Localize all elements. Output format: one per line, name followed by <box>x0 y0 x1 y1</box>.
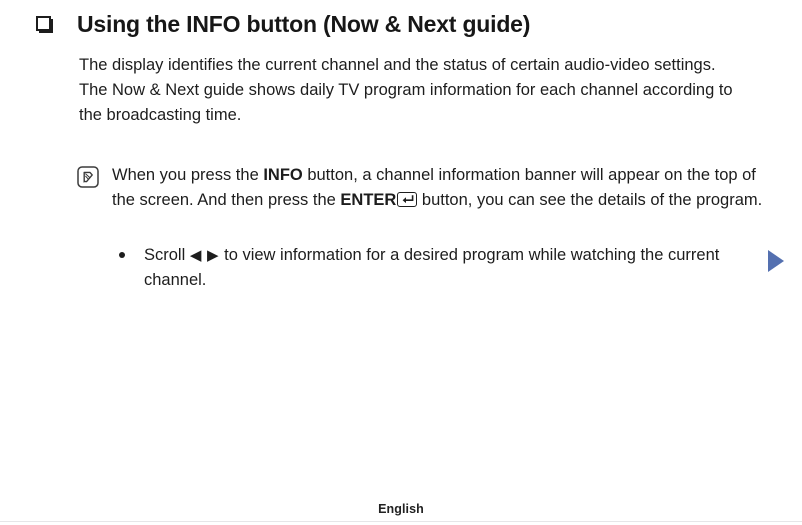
note-text-part-1: When you press the <box>112 166 263 184</box>
bullet-box <box>36 16 51 31</box>
arrow-left-icon: ◀ <box>190 247 203 264</box>
note-block: When you press the INFO button, a channe… <box>77 163 767 213</box>
scroll-text-before: Scroll <box>144 246 190 264</box>
body-text-block: The display identifies the current chann… <box>79 53 739 128</box>
note-bold-enter: ENTER <box>340 191 396 209</box>
note-bold-info: INFO <box>263 166 302 184</box>
arrow-right-icon: ▶ <box>207 247 220 264</box>
scroll-text-after: to view information for a desired progra… <box>144 246 719 289</box>
section-heading: Using the INFO button (Now & Next guide) <box>36 10 762 38</box>
page-title: Using the INFO button (Now & Next guide) <box>77 10 530 38</box>
list-item: Scroll ◀ ▶ to view information for a des… <box>119 243 769 292</box>
round-dot-bullet-icon <box>119 252 125 258</box>
enter-return-key-icon <box>397 192 417 207</box>
hollow-square-bullet-icon <box>36 16 53 33</box>
body-paragraph-2: The Now & Next guide shows daily TV prog… <box>79 78 739 128</box>
body-paragraph-1: The display identifies the current chann… <box>79 53 739 78</box>
note-text-part-3: button, you can see the details of the p… <box>417 191 762 209</box>
note-text: When you press the INFO button, a channe… <box>112 163 767 213</box>
footer-divider <box>0 521 802 522</box>
samsung-note-pencil-icon <box>77 166 99 188</box>
manual-page: Using the INFO button (Now & Next guide)… <box>0 0 802 525</box>
footer-language-label: English <box>378 502 424 516</box>
page-footer: English <box>0 500 802 518</box>
next-page-triangle-icon[interactable] <box>768 250 784 272</box>
sub-bullet-list: Scroll ◀ ▶ to view information for a des… <box>119 243 769 292</box>
list-item-label: Scroll ◀ ▶ to view information for a des… <box>144 243 769 292</box>
